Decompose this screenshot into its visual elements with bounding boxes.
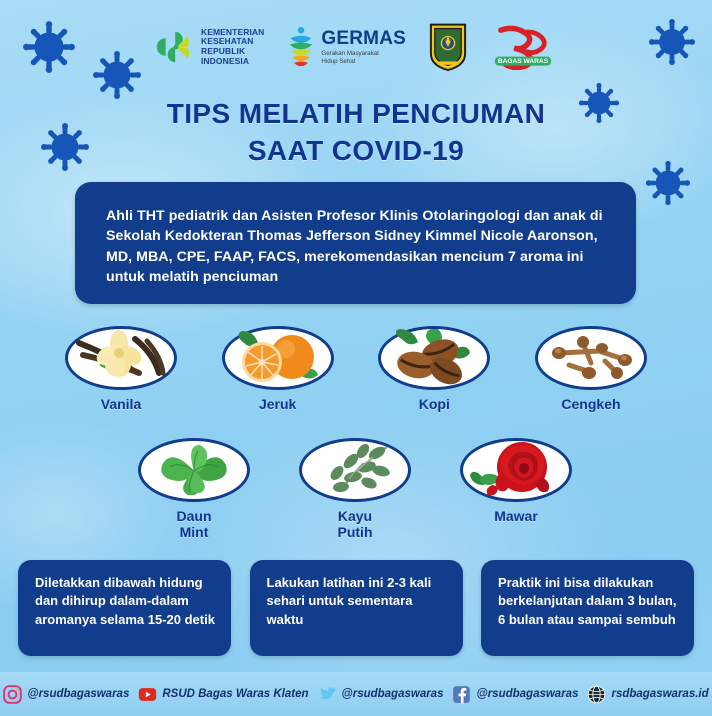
plate xyxy=(299,438,411,502)
plate xyxy=(65,326,177,390)
page-title: TIPS MELATIH PENCIUMAN SAAT COVID-19 xyxy=(0,96,712,170)
tip-box-2: Lakukan latihan ini 2-3 kali sehari untu… xyxy=(250,560,463,656)
germas-subtitle: Gerakan Masyarakat Hidup Sehat xyxy=(321,50,406,66)
bagas-waras-bw-icon: BAGAS WARAS xyxy=(490,24,556,70)
social-twitter[interactable]: @rsudbagaswaras xyxy=(318,685,444,704)
eucalyptus-icon xyxy=(303,441,407,499)
tip-box-3: Praktik ini bisa dilakukan berkelanjutan… xyxy=(481,560,694,656)
klaten-shield-icon xyxy=(428,22,468,72)
tip-text: Praktik ini bisa dilakukan berkelanjutan… xyxy=(498,574,681,629)
twitter-icon[interactable] xyxy=(318,685,337,704)
aroma-row-1: Vanila xyxy=(56,326,656,412)
clove-icon xyxy=(539,329,643,387)
germas-text-block: GERMAS Gerakan Masyarakat Hidup Sehat xyxy=(321,29,406,66)
aroma-item-kopi: Kopi xyxy=(369,326,499,412)
mint-leaf-icon xyxy=(142,441,246,499)
plate xyxy=(378,326,490,390)
tip-box-1: Diletakkan dibawah hidung dan dihirup da… xyxy=(18,560,231,656)
aroma-label: Daun Mint xyxy=(177,508,212,540)
plate xyxy=(535,326,647,390)
aroma-item-daun-mint: Daun Mint xyxy=(129,438,259,540)
aroma-row-2: Daun Mint xyxy=(129,438,581,540)
tip-text: Diletakkan dibawah hidung dan dihirup da… xyxy=(35,574,218,629)
aroma-label: Cengkeh xyxy=(561,396,620,412)
plate xyxy=(138,438,250,502)
footer-social-bar: @rsudbagaswaras RSUD Bagas Waras Klaten … xyxy=(0,672,712,716)
tip-text: Lakukan latihan ini 2-3 kali sehari untu… xyxy=(267,574,450,629)
orange-icon xyxy=(226,329,330,387)
social-instagram[interactable]: @rsudbagaswaras xyxy=(3,685,129,704)
kemenkes-clover-icon xyxy=(156,27,196,67)
aroma-item-cengkeh: Cengkeh xyxy=(526,326,656,412)
youtube-icon[interactable] xyxy=(138,685,157,704)
social-facebook[interactable]: @rsudbagaswaras xyxy=(452,685,578,704)
facebook-icon[interactable] xyxy=(452,685,471,704)
info-panel-text: Ahli THT pediatrik dan Asisten Profesor … xyxy=(106,206,610,287)
social-handle: rsdbagaswaras.id xyxy=(611,688,708,700)
aroma-item-jeruk: Jeruk xyxy=(213,326,343,412)
social-youtube[interactable]: RSUD Bagas Waras Klaten xyxy=(138,685,308,704)
social-handle: @rsudbagaswaras xyxy=(476,688,578,700)
tips-row: Diletakkan dibawah hidung dan dihirup da… xyxy=(18,560,694,656)
vanilla-icon xyxy=(69,329,173,387)
aroma-label: Vanila xyxy=(101,396,141,412)
social-handle: RSUD Bagas Waras Klaten xyxy=(162,688,308,700)
aroma-label: Kayu Putih xyxy=(338,508,373,540)
aroma-label: Kopi xyxy=(419,396,450,412)
coffee-bean-icon xyxy=(382,329,486,387)
germas-logo: GERMAS Gerakan Masyarakat Hidup Sehat xyxy=(286,26,406,68)
aroma-label: Mawar xyxy=(494,508,538,524)
plate xyxy=(460,438,572,502)
social-website[interactable]: rsdbagaswaras.id xyxy=(587,685,708,704)
website-globe-icon[interactable] xyxy=(587,685,606,704)
logo-strip: KEMENTERIAN KESEHATAN REPUBLIK INDONESIA… xyxy=(0,14,712,80)
germas-figure-icon xyxy=(286,26,316,68)
title-line-2: SAAT COVID-19 xyxy=(0,133,712,170)
kemenkes-label: KEMENTERIAN KESEHATAN REPUBLIK INDONESIA xyxy=(201,28,264,66)
aroma-item-vanila: Vanila xyxy=(56,326,186,412)
germas-title: GERMAS xyxy=(321,29,406,48)
social-handle: @rsudbagaswaras xyxy=(27,688,129,700)
klaten-crest-logo xyxy=(428,22,468,72)
instagram-icon[interactable] xyxy=(3,685,22,704)
aroma-label: Jeruk xyxy=(259,396,296,412)
aroma-item-mawar: Mawar xyxy=(451,438,581,540)
rose-icon xyxy=(464,441,568,499)
infographic-poster: KEMENTERIAN KESEHATAN REPUBLIK INDONESIA… xyxy=(0,0,712,716)
aroma-item-kayu-putih: Kayu Putih xyxy=(290,438,420,540)
kemenkes-logo: KEMENTERIAN KESEHATAN REPUBLIK INDONESIA xyxy=(156,27,264,67)
title-line-1: TIPS MELATIH PENCIUMAN xyxy=(0,96,712,133)
bagas-waras-logo: BAGAS WARAS xyxy=(490,24,556,70)
info-panel: Ahli THT pediatrik dan Asisten Profesor … xyxy=(75,182,636,304)
plate xyxy=(222,326,334,390)
svg-text:BAGAS WARAS: BAGAS WARAS xyxy=(498,58,549,65)
social-handle: @rsudbagaswaras xyxy=(342,688,444,700)
